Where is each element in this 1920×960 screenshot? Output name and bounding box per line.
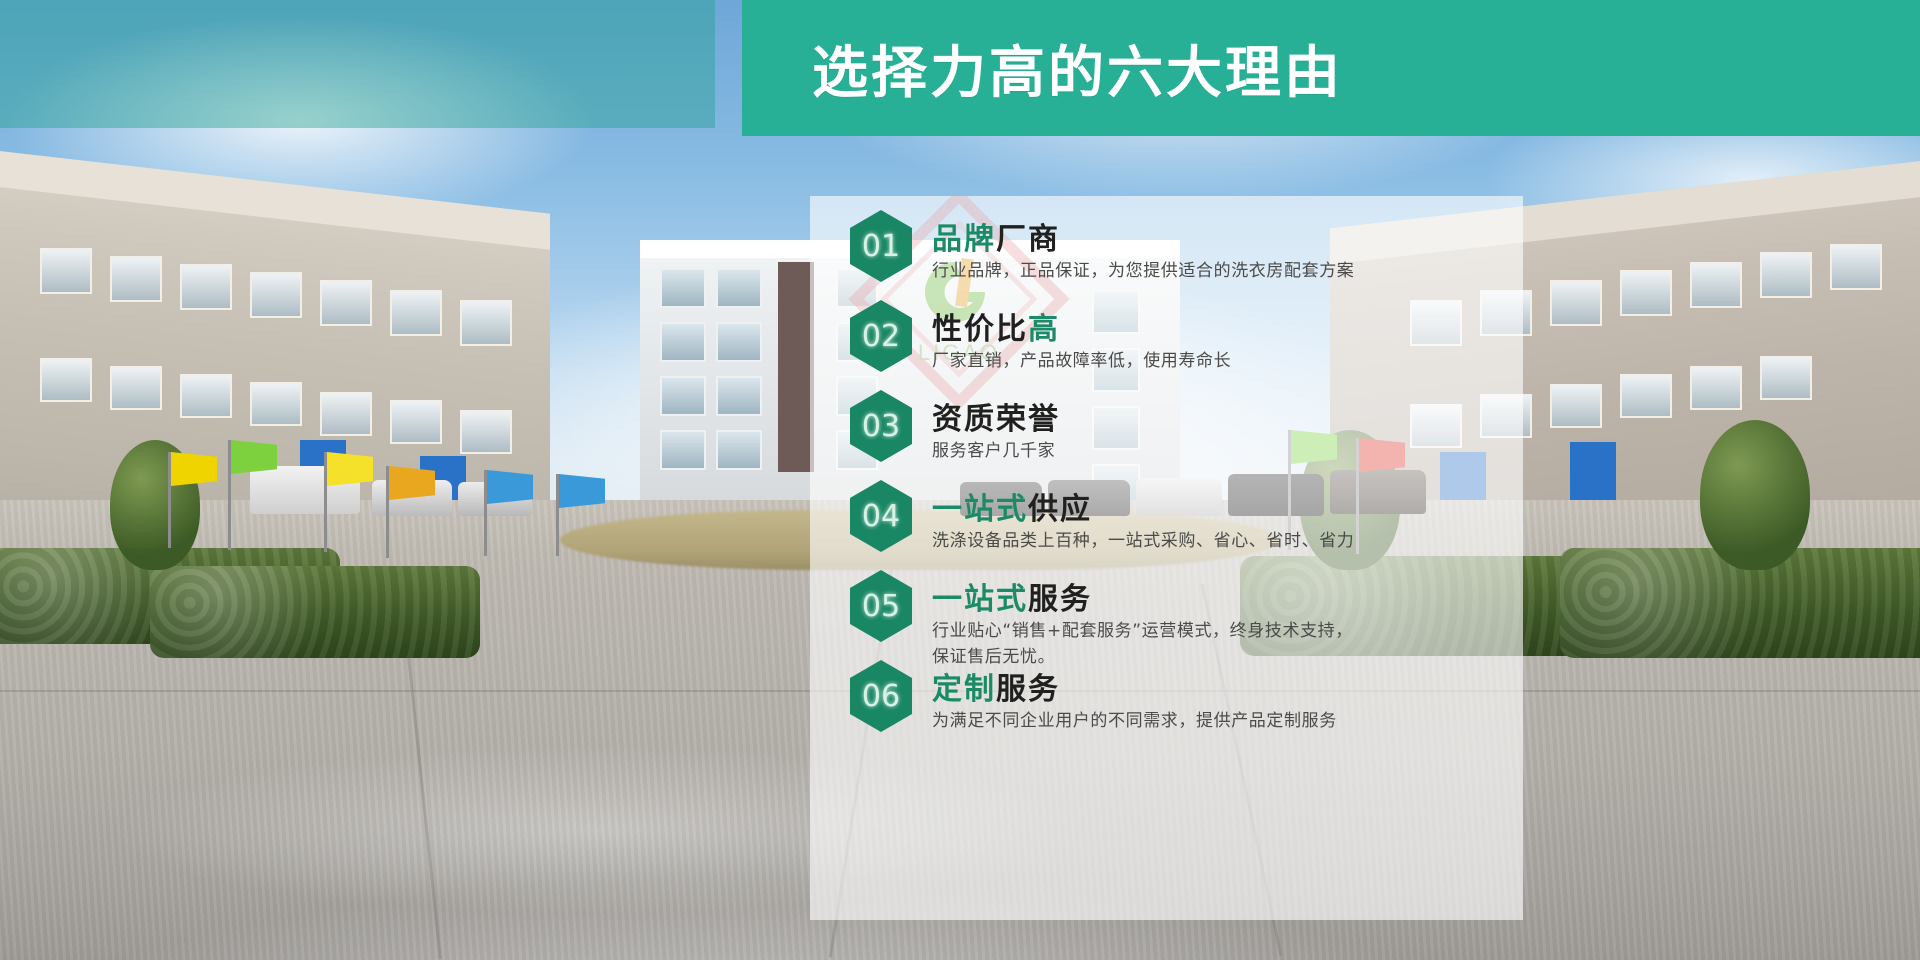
item-heading-accent: 品牌: [932, 222, 996, 257]
hex-badge-03: 03: [850, 390, 912, 462]
page-title: 选择力高的六大理由: [812, 28, 1343, 109]
hex-badge-04: 04: [850, 480, 912, 552]
item-heading-rest: 厂商: [996, 222, 1060, 257]
item-heading: 性价比高: [932, 304, 1060, 348]
hex-badge-number: 04: [862, 499, 900, 534]
item-description: 行业贴心“销售+配套服务”运营模式，终身技术支持， 保证售后无忧。: [932, 618, 1353, 670]
item-heading-rest: 供应: [1028, 492, 1092, 527]
item-heading: 定制服务: [932, 664, 1060, 708]
item-heading-accent: 高: [1028, 312, 1060, 347]
item-heading: 一站式供应: [932, 484, 1092, 528]
item-heading-accent: 一站式: [932, 582, 1028, 617]
item-heading-rest: 资质荣誉: [932, 402, 1060, 437]
item-description: 洗涤设备品类上百种，一站式采购、省心、省时、省力: [932, 528, 1354, 554]
item-description: 厂家直销，产品故障率低，使用寿命长: [932, 348, 1231, 374]
hex-badge-05: 05: [850, 570, 912, 642]
item-heading-rest: 服务: [996, 672, 1060, 707]
hex-badge-number: 01: [862, 229, 900, 264]
reasons-panel: LIGAO 01 品牌厂商 行业品牌，正品保证，为您提供适合的洗衣房配套方案 0…: [810, 196, 1523, 920]
item-heading-accent: 定制: [932, 672, 996, 707]
item-heading: 品牌厂商: [932, 214, 1060, 258]
hex-badge-number: 05: [862, 589, 900, 624]
hex-badge-number: 03: [862, 409, 900, 444]
item-description: 行业品牌，正品保证，为您提供适合的洗衣房配套方案: [932, 258, 1354, 284]
item-heading-rest: 服务: [1028, 582, 1092, 617]
hex-badge-06: 06: [850, 660, 912, 732]
hex-badge-02: 02: [850, 300, 912, 372]
item-heading-accent: 一站式: [932, 492, 1028, 527]
item-description: 服务客户几千家: [932, 438, 1055, 464]
header-banner: 选择力高的六大理由: [742, 0, 1920, 136]
hex-badge-number: 02: [862, 319, 900, 354]
header-teal-tint: [0, 0, 715, 128]
hex-badge-number: 06: [862, 679, 900, 714]
item-description: 为满足不同企业用户的不同需求，提供产品定制服务: [932, 708, 1337, 734]
item-heading: 一站式服务: [932, 574, 1092, 618]
item-heading: 资质荣誉: [932, 394, 1060, 438]
hex-badge-01: 01: [850, 210, 912, 282]
item-heading-rest: 性价比: [932, 312, 1028, 347]
